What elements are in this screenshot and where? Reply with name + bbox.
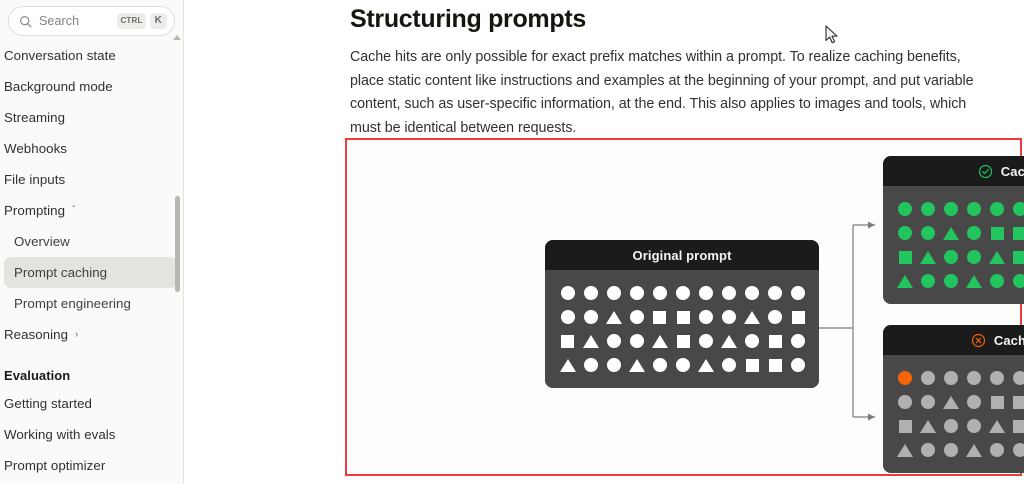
shape-cell	[963, 390, 986, 414]
shape-cell	[556, 329, 579, 353]
shape-circle	[768, 310, 782, 324]
shape-triangle	[989, 251, 1005, 264]
shape-cell	[963, 438, 986, 462]
shape-circle	[944, 371, 958, 385]
search-input[interactable]: Search CTRL K	[8, 6, 175, 36]
shape-circle	[921, 226, 935, 240]
shape-cell	[718, 281, 741, 305]
shape-circle	[653, 286, 667, 300]
shape-triangle	[897, 444, 913, 457]
shape-triangle	[629, 359, 645, 372]
shape-cell	[1009, 390, 1024, 414]
panel-cache-hit-header: Cache hit	[883, 156, 1024, 186]
shape-cell	[963, 269, 986, 293]
shape-triangle	[989, 420, 1005, 433]
shape-cell	[940, 245, 963, 269]
shape-circle	[584, 310, 598, 324]
shape-circle	[944, 250, 958, 264]
shape-circle	[584, 286, 598, 300]
sidebar-item-label: Prompt optimizer	[4, 458, 105, 473]
shape-circle	[967, 371, 981, 385]
sidebar-item-prompt-engineering[interactable]: Prompt engineering	[0, 288, 183, 319]
shape-circle	[630, 310, 644, 324]
shape-circle	[967, 395, 981, 409]
shape-square	[561, 335, 574, 348]
shape-cell	[671, 329, 694, 353]
shape-cell	[764, 329, 787, 353]
shape-cell	[741, 281, 764, 305]
shape-cell	[940, 269, 963, 293]
panel-cache-miss-title: Cache miss	[994, 333, 1024, 348]
shape-cell	[695, 353, 718, 377]
shape-circle	[607, 334, 621, 348]
shape-circle	[768, 286, 782, 300]
cache-diagram-figure: Original prompt Cache hit	[345, 138, 1022, 476]
shape-circle	[944, 443, 958, 457]
shape-circle	[1013, 371, 1024, 385]
shape-circle	[944, 419, 958, 433]
shape-square	[991, 227, 1004, 240]
shape-cell	[917, 245, 940, 269]
shape-circle	[990, 202, 1004, 216]
shape-cell	[718, 353, 741, 377]
shape-triangle	[943, 227, 959, 240]
shape-cell	[579, 281, 602, 305]
panel-original-prompt: Original prompt	[545, 240, 819, 388]
shape-cell	[718, 329, 741, 353]
sidebar-scrollbar[interactable]	[175, 36, 180, 480]
shape-triangle	[920, 251, 936, 264]
shape-square	[769, 359, 782, 372]
shape-cell	[894, 414, 917, 438]
shape-cell	[625, 329, 648, 353]
shape-circle	[699, 310, 713, 324]
shape-cell	[648, 329, 671, 353]
shape-cell	[917, 197, 940, 221]
panel-cache-hit-grid	[883, 186, 1024, 304]
shape-cell	[787, 329, 810, 353]
shape-cell	[764, 305, 787, 329]
shape-circle	[630, 286, 644, 300]
shape-cell	[648, 353, 671, 377]
shape-circle	[967, 202, 981, 216]
shape-row	[556, 353, 810, 377]
chevron-right-icon: ›	[75, 330, 78, 340]
shape-circle	[699, 334, 713, 348]
sidebar-item-label: Webhooks	[4, 141, 67, 156]
shape-cell	[787, 305, 810, 329]
sidebar-item-overview[interactable]: Overview	[0, 226, 183, 257]
panel-cache-miss-header: Cache miss	[883, 325, 1024, 355]
shape-cell	[917, 414, 940, 438]
sidebar-item-working-with-evals[interactable]: Working with evals	[0, 419, 183, 450]
sidebar-item-prompt-optimizer[interactable]: Prompt optimizer	[0, 450, 183, 481]
sidebar-item-label: Overview	[14, 234, 70, 249]
shape-cell	[741, 329, 764, 353]
shape-square	[899, 420, 912, 433]
shape-row	[894, 390, 1024, 414]
shape-circle	[630, 334, 644, 348]
sidebar-item-prompt-caching[interactable]: Prompt caching	[4, 257, 177, 288]
shape-square	[653, 311, 666, 324]
sidebar-item-label: Conversation state	[4, 48, 116, 63]
shape-cell	[579, 329, 602, 353]
sidebar-item-prompting[interactable]: Promptingˇ	[0, 195, 183, 226]
shape-circle	[791, 334, 805, 348]
shape-cell	[556, 305, 579, 329]
shape-cell	[917, 269, 940, 293]
shape-triangle	[744, 311, 760, 324]
shape-cell	[940, 390, 963, 414]
sidebar-item-getting-started[interactable]: Getting started	[0, 388, 183, 419]
shape-row	[894, 269, 1024, 293]
shape-triangle	[966, 444, 982, 457]
shape-circle	[584, 358, 598, 372]
sidebar-section-evaluation: Evaluation	[0, 362, 183, 388]
kbd-k: K	[150, 13, 167, 29]
shape-circle	[791, 286, 805, 300]
shape-circle	[607, 286, 621, 300]
shape-square	[1013, 420, 1024, 433]
shape-circle	[921, 274, 935, 288]
sidebar-item-webhooks[interactable]: Webhooks	[0, 133, 183, 164]
shape-square	[677, 311, 690, 324]
shape-circle	[745, 286, 759, 300]
sidebar: Search CTRL K Conversation stateBackgrou…	[0, 0, 184, 484]
search-placeholder: Search	[39, 14, 110, 28]
shape-cell	[625, 281, 648, 305]
sidebar-item-label: File inputs	[4, 172, 65, 187]
shape-cell	[986, 390, 1009, 414]
shape-cell	[963, 414, 986, 438]
shape-circle	[990, 443, 1004, 457]
shape-cell	[718, 305, 741, 329]
sidebar-item-label: Streaming	[4, 110, 65, 125]
shape-cell	[671, 353, 694, 377]
sidebar-item-label: Prompt caching	[14, 265, 107, 280]
shape-cell	[894, 269, 917, 293]
shape-square	[677, 335, 690, 348]
sidebar-scrollbar-thumb[interactable]	[175, 196, 180, 292]
circle-x-icon	[971, 333, 986, 348]
shape-circle	[967, 250, 981, 264]
shape-triangle	[943, 396, 959, 409]
sidebar-item-label: Background mode	[4, 79, 113, 94]
page-title: Structuring prompts	[350, 5, 586, 34]
shape-cell	[917, 390, 940, 414]
shape-cell	[1009, 197, 1024, 221]
shape-cell	[986, 366, 1009, 390]
shape-triangle	[920, 420, 936, 433]
shape-cell	[986, 269, 1009, 293]
shape-cell	[602, 281, 625, 305]
shape-circle	[1013, 202, 1024, 216]
shape-circle	[561, 310, 575, 324]
shape-row	[556, 329, 810, 353]
shape-cell	[579, 353, 602, 377]
shape-triangle	[583, 335, 599, 348]
sidebar-item-file-inputs[interactable]: File inputs	[0, 164, 183, 195]
search-container: Search CTRL K	[0, 0, 183, 36]
shape-circle	[676, 286, 690, 300]
shape-row	[894, 366, 1024, 390]
shape-cell	[695, 305, 718, 329]
shape-cell	[963, 221, 986, 245]
shape-row	[894, 438, 1024, 462]
shape-row	[894, 221, 1024, 245]
shape-cell	[671, 305, 694, 329]
shape-cell	[1009, 414, 1024, 438]
shape-circle	[791, 358, 805, 372]
shape-circle	[1013, 274, 1024, 288]
shape-cell	[1009, 245, 1024, 269]
shape-triangle	[606, 311, 622, 324]
shape-square	[1013, 396, 1024, 409]
shape-circle	[898, 395, 912, 409]
shape-triangle	[698, 359, 714, 372]
shape-circle	[944, 274, 958, 288]
shape-cell	[648, 305, 671, 329]
shape-cell	[940, 221, 963, 245]
shape-cell	[894, 366, 917, 390]
chevron-down-icon: ˇ	[72, 206, 75, 216]
shape-cell	[940, 438, 963, 462]
sidebar-item-label: Working with evals	[4, 427, 116, 442]
shape-row	[556, 305, 810, 329]
shape-cell	[1009, 221, 1024, 245]
shape-cell	[940, 197, 963, 221]
shape-circle	[944, 202, 958, 216]
shape-cell	[602, 329, 625, 353]
shape-cell	[894, 197, 917, 221]
shape-circle	[967, 226, 981, 240]
panel-cache-hit: Cache hit	[883, 156, 1024, 304]
shape-circle	[722, 358, 736, 372]
shape-square	[1013, 227, 1024, 240]
shape-cell	[894, 438, 917, 462]
shape-circle	[653, 358, 667, 372]
sidebar-item-background-mode[interactable]: Background mode	[0, 71, 183, 102]
shape-circle	[921, 395, 935, 409]
panel-cache-hit-title: Cache hit	[1001, 164, 1024, 179]
shape-circle	[745, 334, 759, 348]
shape-cell	[894, 245, 917, 269]
shape-circle	[967, 419, 981, 433]
shape-circle	[1013, 443, 1024, 457]
shape-cell	[602, 353, 625, 377]
shape-circle	[699, 286, 713, 300]
panel-original-title: Original prompt	[633, 248, 732, 263]
screen-root: Search CTRL K Conversation stateBackgrou…	[0, 0, 1024, 484]
shape-circle	[990, 274, 1004, 288]
shape-cell	[764, 281, 787, 305]
shape-cell	[963, 197, 986, 221]
shape-row	[556, 281, 810, 305]
shape-cell	[1009, 269, 1024, 293]
sidebar-item-label: Prompting	[4, 203, 65, 218]
shape-circle	[898, 226, 912, 240]
sidebar-nav: Conversation stateBackground modeStreami…	[0, 40, 183, 481]
shape-cell	[556, 281, 579, 305]
shape-cell	[986, 197, 1009, 221]
shape-cell	[940, 366, 963, 390]
shape-circle	[722, 286, 736, 300]
panel-cache-miss: Cache miss	[883, 325, 1024, 473]
shape-cell	[787, 281, 810, 305]
shape-cell	[741, 353, 764, 377]
shape-square	[792, 311, 805, 324]
shape-cell	[556, 353, 579, 377]
shape-cell	[579, 305, 602, 329]
shape-circle	[607, 358, 621, 372]
shape-cell	[695, 281, 718, 305]
shape-cell	[671, 281, 694, 305]
sidebar-item-label: Prompt engineering	[14, 296, 131, 311]
panel-original-grid	[545, 270, 819, 388]
shape-cell	[1009, 366, 1024, 390]
shape-circle	[898, 202, 912, 216]
main-content: Structuring prompts Cache hits are only …	[184, 0, 1024, 484]
sidebar-item-reasoning[interactable]: Reasoning›	[0, 319, 183, 350]
shape-circle	[898, 371, 912, 385]
shape-triangle	[721, 335, 737, 348]
kbd-ctrl: CTRL	[117, 13, 145, 29]
intro-paragraph: Cache hits are only possible for exact p…	[350, 46, 996, 140]
shape-triangle	[652, 335, 668, 348]
circle-check-icon	[978, 164, 993, 179]
shape-cell	[648, 281, 671, 305]
shape-square	[899, 251, 912, 264]
shape-triangle	[897, 275, 913, 288]
mouse-cursor	[825, 25, 840, 46]
shape-square	[746, 359, 759, 372]
shape-cell	[917, 366, 940, 390]
panel-cache-miss-grid	[883, 355, 1024, 473]
shape-cell	[963, 245, 986, 269]
sidebar-item-streaming[interactable]: Streaming	[0, 102, 183, 133]
shape-row	[894, 414, 1024, 438]
shape-row	[894, 245, 1024, 269]
shape-cell	[917, 438, 940, 462]
shape-circle	[990, 371, 1004, 385]
shape-circle	[676, 358, 690, 372]
sidebar-item-label: Reasoning	[4, 327, 68, 342]
sidebar-item-label: Evaluation	[4, 368, 70, 383]
shape-cell	[1009, 438, 1024, 462]
shape-circle	[921, 371, 935, 385]
shape-cell	[940, 414, 963, 438]
shape-cell	[894, 221, 917, 245]
shape-row	[894, 197, 1024, 221]
shape-cell	[963, 366, 986, 390]
sidebar-item-conversation-state[interactable]: Conversation state	[0, 40, 183, 71]
shape-cell	[741, 305, 764, 329]
shape-cell	[602, 305, 625, 329]
shape-square	[769, 335, 782, 348]
shape-circle	[921, 202, 935, 216]
shape-triangle	[560, 359, 576, 372]
shape-cell	[917, 221, 940, 245]
shape-cell	[764, 353, 787, 377]
shape-cell	[625, 353, 648, 377]
shape-cell	[986, 245, 1009, 269]
sidebar-item-label: Getting started	[4, 396, 92, 411]
shape-cell	[986, 414, 1009, 438]
shape-triangle	[966, 275, 982, 288]
search-icon	[19, 15, 32, 28]
panel-original-header: Original prompt	[545, 240, 819, 270]
shape-circle	[921, 443, 935, 457]
shape-square	[1013, 251, 1024, 264]
shape-cell	[986, 438, 1009, 462]
shape-cell	[986, 221, 1009, 245]
shape-cell	[894, 390, 917, 414]
shape-cell	[787, 353, 810, 377]
shape-square	[991, 396, 1004, 409]
shape-cell	[695, 329, 718, 353]
shape-cell	[625, 305, 648, 329]
search-shortcut: CTRL K	[117, 13, 167, 29]
shape-circle	[561, 286, 575, 300]
shape-circle	[722, 310, 736, 324]
